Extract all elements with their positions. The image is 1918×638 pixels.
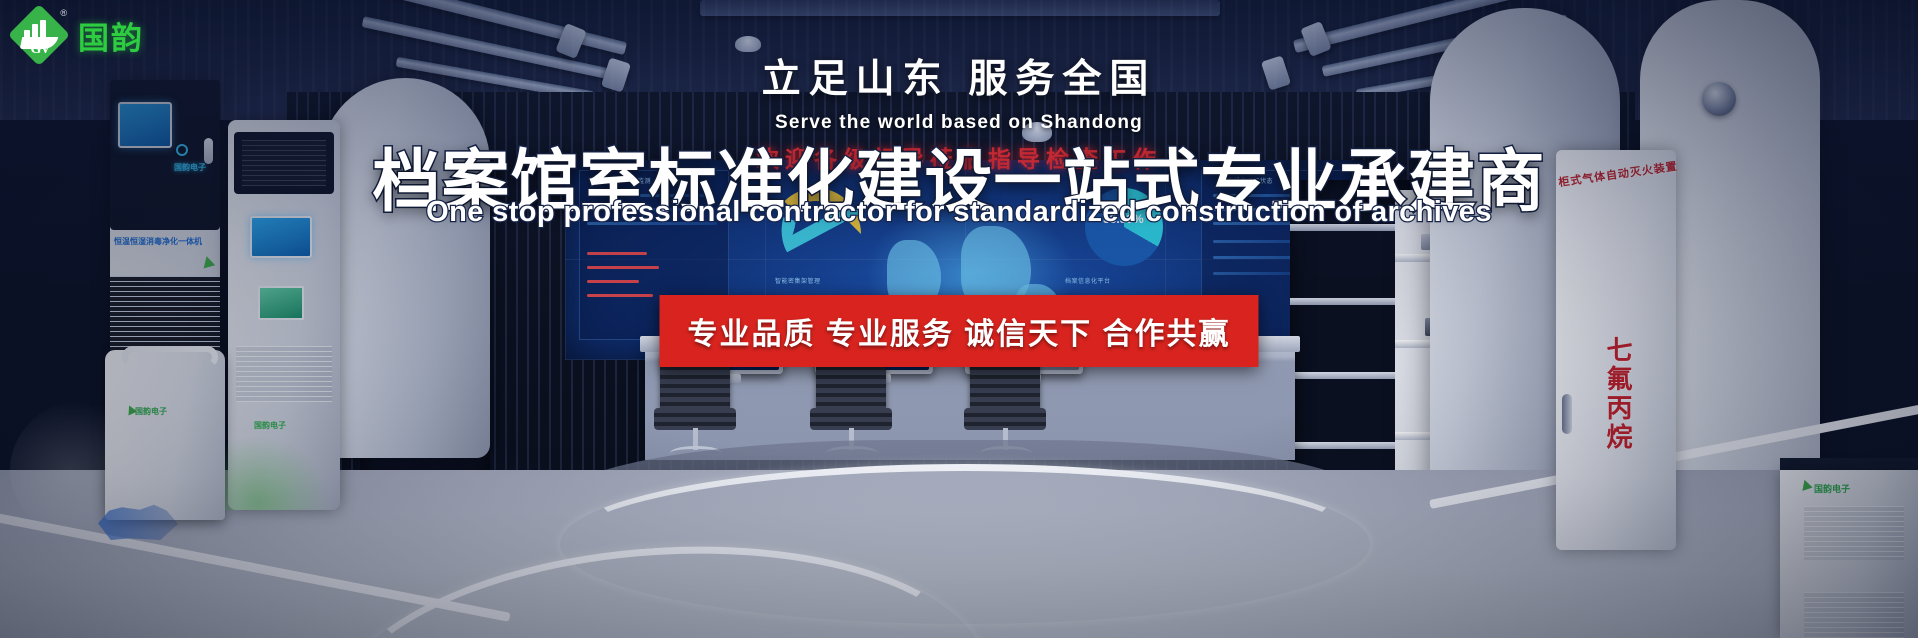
slogan-red-banner: 专业品质 专业服务 诚信天下 合作共赢 <box>659 295 1258 367</box>
slogan-text: 专业品质 专业服务 诚信天下 合作共赢 <box>687 318 1230 351</box>
headline-english: One stop professional contractor for sta… <box>0 196 1918 229</box>
tagline-chinese: 立足山东 服务全国 <box>0 48 1918 104</box>
hero-banner: 档案库房环境监测 库房设备运行状态 33.33% <box>0 0 1918 638</box>
registered-trademark-icon: ® <box>60 8 67 18</box>
text-overlay: GV ® 国韵 立足山东 服务全国 Serve the world based … <box>0 0 1918 638</box>
